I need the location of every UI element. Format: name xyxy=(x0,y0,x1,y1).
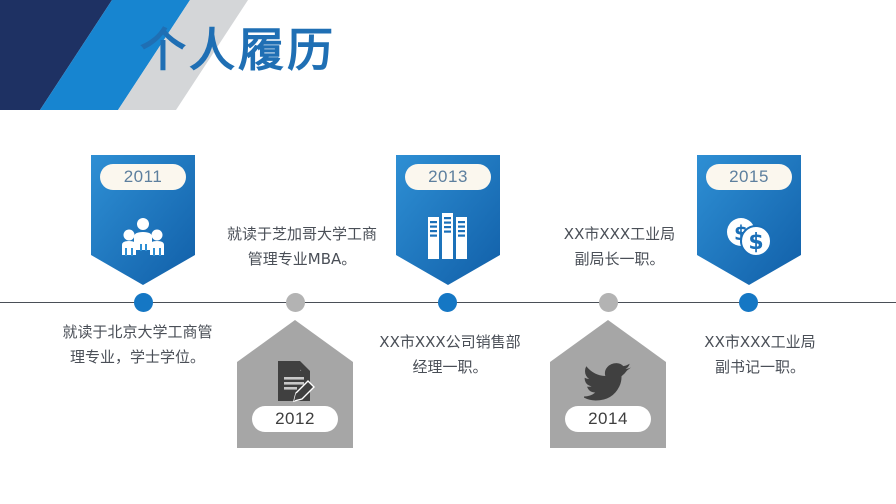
dollar-coins-icon: $ $ xyxy=(697,213,801,259)
milestone-caption-2011: 就读于北京大学工商管 理专业，学士学位。 xyxy=(35,320,240,370)
timeline-dot-2011[interactable] xyxy=(134,293,153,312)
twitter-bird-icon xyxy=(550,356,666,408)
timeline-dot-2015[interactable] xyxy=(739,293,758,312)
group-people-icon xyxy=(91,215,195,259)
milestone-badge-2012[interactable]: 2012 xyxy=(237,320,341,448)
buildings-icon xyxy=(396,213,500,259)
slide-canvas: 个人履历 2011 xyxy=(0,0,896,504)
year-label-2013: 2013 xyxy=(405,164,491,190)
page-title: 个人履历 xyxy=(140,14,336,80)
milestone-caption-2013: XX市XXX公司销售部 经理一职。 xyxy=(360,330,540,380)
milestone-badge-2011[interactable]: 2011 xyxy=(91,155,195,285)
stripe-navy xyxy=(0,0,112,110)
timeline-dot-2012[interactable] xyxy=(286,293,305,312)
timeline-dot-2013[interactable] xyxy=(438,293,457,312)
year-label-2012: 2012 xyxy=(252,406,338,432)
milestone-badge-2014[interactable]: 2014 xyxy=(550,320,654,448)
year-label-2014: 2014 xyxy=(565,406,651,432)
milestone-badge-2015[interactable]: 2015 $ $ xyxy=(697,155,801,285)
document-pencil-icon xyxy=(237,356,353,408)
milestone-caption-2014: XX市XXX工业局 副局长一职。 xyxy=(532,222,707,272)
timeline-dot-2014[interactable] xyxy=(599,293,618,312)
svg-text:$: $ xyxy=(748,230,763,255)
milestone-caption-2015: XX市XXX工业局 副书记一职。 xyxy=(665,330,855,380)
milestone-caption-2012: 就读于芝加哥大学工商 管理专业MBA。 xyxy=(212,222,392,272)
year-label-2011: 2011 xyxy=(100,164,186,190)
milestone-badge-2013[interactable]: 2013 xyxy=(396,155,500,285)
year-label-2015: 2015 xyxy=(706,164,792,190)
